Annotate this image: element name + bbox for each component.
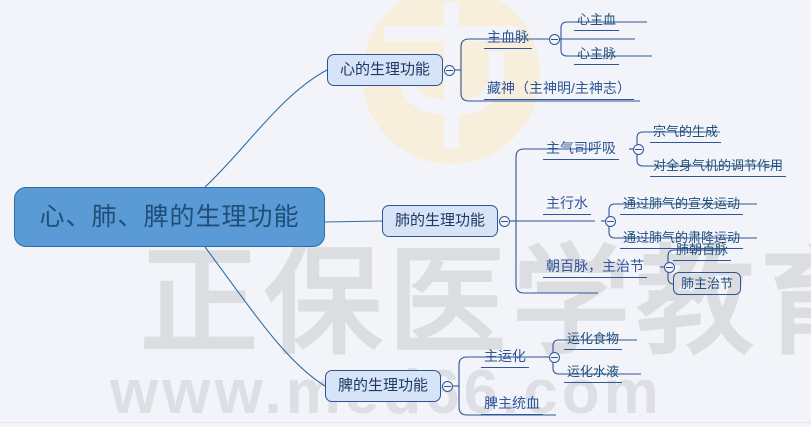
mindmap-canvas: 正保医学教育 www.med66.com: [0, 0, 811, 423]
collapse-minus-icon-lung[interactable]: [499, 216, 510, 227]
node-spleen-yunhuashiwu[interactable]: 运化食物: [564, 332, 622, 350]
branch-node-spleen[interactable]: 脾的生理功能: [325, 370, 441, 402]
node-lung-zhuxingshui[interactable]: 主行水: [543, 196, 591, 215]
collapse-minus-icon-chaobaimai[interactable]: [664, 262, 675, 273]
node-spleen-pizhutongxue[interactable]: 脾主统血: [481, 396, 543, 415]
node-spleen-yunhuashuiye[interactable]: 运化水液: [564, 365, 622, 383]
node-heart-xinzhuxue[interactable]: 心主血: [574, 13, 619, 31]
node-lung-feizhuzhijie[interactable]: 肺主治节: [673, 272, 741, 295]
branch-node-heart[interactable]: 心的生理功能: [327, 54, 443, 86]
node-lung-chaobaimai[interactable]: 朝百脉，主治节: [543, 259, 647, 278]
collapse-minus-icon-zhuyunhua[interactable]: [549, 352, 560, 363]
collapse-minus-icon-spleen[interactable]: [442, 381, 453, 392]
collapse-minus-icon-zhuxuemai[interactable]: [549, 34, 560, 45]
collapse-minus-icon-zhuxingshui[interactable]: [605, 216, 616, 227]
node-lung-zhuqisihuxi[interactable]: 主气司呼吸: [543, 141, 619, 160]
branch-node-lung[interactable]: 肺的生理功能: [382, 205, 498, 237]
node-heart-cangshen[interactable]: 藏神（主神明/主神志）: [484, 81, 634, 100]
node-lung-zongqi[interactable]: 宗气的生成: [650, 125, 721, 143]
node-spleen-zhuyunhua[interactable]: 主运化: [481, 349, 529, 368]
collapse-minus-icon-heart[interactable]: [444, 65, 455, 76]
node-heart-xinzhumai[interactable]: 心主脉: [574, 47, 619, 65]
collapse-minus-icon-zhuqisihuxi[interactable]: [633, 144, 644, 155]
node-lung-qiji[interactable]: 对全身气机的调节作用: [650, 159, 786, 177]
node-heart-zhuxuemai[interactable]: 主血脉: [484, 30, 532, 49]
root-node[interactable]: 心、肺、脾的生理功能: [14, 187, 325, 247]
node-lung-xuanfa[interactable]: 通过肺气的宣发运动: [620, 197, 743, 215]
node-lung-feichaobaimai[interactable]: 肺朝百脉: [673, 243, 731, 261]
